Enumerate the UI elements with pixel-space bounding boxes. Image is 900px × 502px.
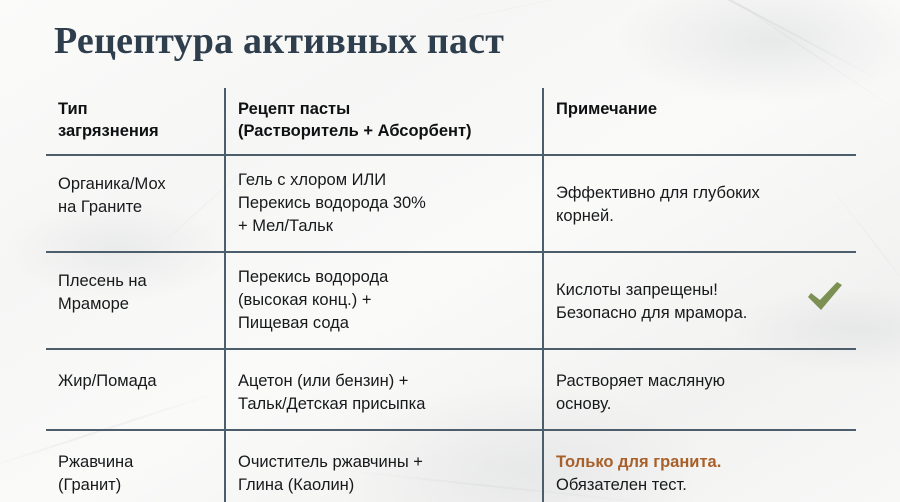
cell-note: Эффективно для глубоких корней.	[544, 156, 856, 251]
column-header-paste-recipe: Рецепт пасты (Растворитель + Абсорбент)	[226, 88, 544, 154]
cell-paste-recipe: Перекись водорода (высокая конц.) + Пище…	[226, 253, 544, 348]
cell-paste-recipe: Очиститель ржавчины + Глина (Каолин)	[226, 431, 544, 502]
note-text: Обязателен тест.	[556, 474, 842, 497]
slide-canvas: Рецептура активных паст Тип загрязнения …	[0, 0, 900, 502]
cell-contamination-type: Плесень на Мраморе	[46, 253, 226, 348]
table-row: Органика/Мох на Граните Гель с хлором ИЛ…	[46, 156, 856, 253]
note-warning-text: Только для гранита.	[556, 451, 842, 474]
cell-note: Кислоты запрещены! Безопасно для мрамора…	[544, 253, 856, 348]
cell-contamination-type: Ржавчина (Гранит)	[46, 431, 226, 502]
cell-paste-recipe: Ацетон (или бензин) + Тальк/Детская прис…	[226, 350, 544, 429]
cell-note: Только для гранита. Обязателен тест.	[544, 431, 856, 502]
column-header-note: Примечание	[544, 88, 856, 154]
column-header-contamination-type: Тип загрязнения	[46, 88, 226, 154]
table-row: Ржавчина (Гранит) Очиститель ржавчины + …	[46, 431, 856, 502]
table-header-row: Тип загрязнения Рецепт пасты (Растворите…	[46, 88, 856, 156]
note-text: Растворяет масляную основу.	[556, 372, 725, 413]
recipes-table: Тип загрязнения Рецепт пасты (Растворите…	[46, 88, 856, 502]
table-row: Плесень на Мраморе Перекись водорода (вы…	[46, 253, 856, 350]
check-mark-icon	[806, 279, 844, 313]
cell-paste-recipe: Гель с хлором ИЛИ Перекись водорода 30% …	[226, 156, 544, 251]
marble-vein	[617, 0, 883, 82]
note-text: Эффективно для глубоких корней.	[556, 184, 760, 225]
cell-contamination-type: Жир/Помада	[46, 350, 226, 429]
note-text: Кислоты запрещены! Безопасно для мрамора…	[556, 281, 747, 322]
table-row: Жир/Помада Ацетон (или бензин) + Тальк/Д…	[46, 350, 856, 431]
page-title: Рецептура активных паст	[54, 18, 504, 64]
cell-contamination-type: Органика/Мох на Граните	[46, 156, 226, 251]
cell-note: Растворяет масляную основу.	[544, 350, 856, 429]
